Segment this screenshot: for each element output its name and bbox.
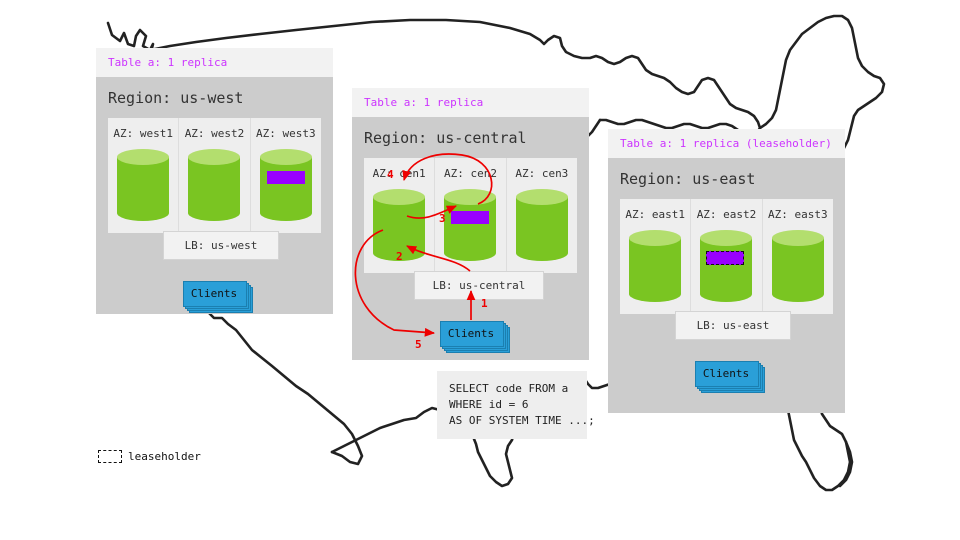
az-label: AZ: cen3: [507, 167, 577, 180]
flow-label-1: 1: [481, 297, 488, 310]
node-cylinder-east1[interactable]: [629, 230, 681, 302]
region-header-label: Table a: 1 replica: [352, 88, 589, 117]
node-cylinder-west3[interactable]: [260, 149, 312, 221]
node-cylinder-west2[interactable]: [188, 149, 240, 221]
region-title: Region: us-east: [608, 158, 845, 199]
cylinder-body: [700, 238, 752, 294]
flow-label-5: 5: [415, 338, 422, 351]
az-cell-east2[interactable]: AZ: east2: [691, 199, 762, 314]
replica-marker-west3: [267, 171, 305, 184]
replica-marker-east2-leaseholder: [706, 251, 744, 265]
load-balancer-us-east[interactable]: LB: us-east: [675, 311, 791, 340]
az-label: AZ: cen2: [435, 167, 505, 180]
az-cell-west1[interactable]: AZ: west1: [108, 118, 179, 233]
cylinder-top: [629, 230, 681, 246]
az-label: AZ: west2: [179, 127, 249, 140]
clients-label: Clients: [183, 281, 245, 305]
diagram-canvas: Table a: 1 replica Region: us-west AZ: w…: [0, 0, 960, 540]
replica-marker-cen2: [451, 211, 489, 224]
az-label: AZ: east1: [620, 208, 690, 221]
az-cell-west2[interactable]: AZ: west2: [179, 118, 250, 233]
clients-label: Clients: [695, 361, 757, 385]
cylinder-body: [117, 157, 169, 213]
cylinder-body: [188, 157, 240, 213]
cylinder-top: [373, 189, 425, 205]
az-cell-east1[interactable]: AZ: east1: [620, 199, 691, 314]
node-cylinder-east2[interactable]: [700, 230, 752, 302]
az-label: AZ: east3: [763, 208, 833, 221]
az-cell-cen2[interactable]: AZ: cen2: [435, 158, 506, 273]
legend-label: leaseholder: [128, 450, 201, 463]
legend: leaseholder: [98, 450, 201, 463]
clients-us-central[interactable]: Clients: [440, 321, 502, 345]
cylinder-body: [772, 238, 824, 294]
node-cylinder-east3[interactable]: [772, 230, 824, 302]
region-header-label: Table a: 1 replica (leaseholder): [608, 129, 845, 158]
az-cell-east3[interactable]: AZ: east3: [763, 199, 833, 314]
az-label: AZ: cen1: [364, 167, 434, 180]
flow-label-4: 4: [387, 168, 394, 181]
cylinder-body: [444, 197, 496, 253]
clients-us-east[interactable]: Clients: [695, 361, 757, 385]
az-cell-cen3[interactable]: AZ: cen3: [507, 158, 577, 273]
flow-label-3: 3: [439, 212, 446, 225]
flow-label-2: 2: [396, 250, 403, 263]
region-body: Region: us-west AZ: west1 AZ: west2: [96, 77, 333, 314]
az-label: AZ: west1: [108, 127, 178, 140]
dashed-rect-icon: [98, 450, 122, 463]
region-title: Region: us-west: [96, 77, 333, 118]
load-balancer-us-central[interactable]: LB: us-central: [414, 271, 544, 300]
node-cylinder-cen3[interactable]: [516, 189, 568, 261]
cylinder-top: [117, 149, 169, 165]
node-cylinder-cen2[interactable]: [444, 189, 496, 261]
cylinder-body: [629, 238, 681, 294]
clients-us-west[interactable]: Clients: [183, 281, 245, 305]
sql-query-box: SELECT code FROM a WHERE id = 6 AS OF SY…: [437, 371, 587, 439]
region-header-label: Table a: 1 replica: [96, 48, 333, 77]
load-balancer-us-west[interactable]: LB: us-west: [163, 231, 279, 260]
cylinder-body: [516, 197, 568, 253]
cylinder-top: [772, 230, 824, 246]
region-panel-us-central: Table a: 1 replica Region: us-central AZ…: [352, 88, 589, 360]
az-row: AZ: east1 AZ: east2: [620, 199, 833, 314]
cylinder-body: [260, 157, 312, 213]
region-panel-us-west: Table a: 1 replica Region: us-west AZ: w…: [96, 48, 333, 314]
region-title: Region: us-central: [352, 117, 589, 158]
az-row: AZ: west1 AZ: west2 AZ: [108, 118, 321, 233]
az-label: AZ: west3: [251, 127, 321, 140]
az-label: AZ: east2: [691, 208, 761, 221]
cylinder-top: [516, 189, 568, 205]
cylinder-top: [260, 149, 312, 165]
cylinder-body: [373, 197, 425, 253]
node-cylinder-west1[interactable]: [117, 149, 169, 221]
az-cell-west3[interactable]: AZ: west3: [251, 118, 321, 233]
clients-label: Clients: [440, 321, 502, 345]
